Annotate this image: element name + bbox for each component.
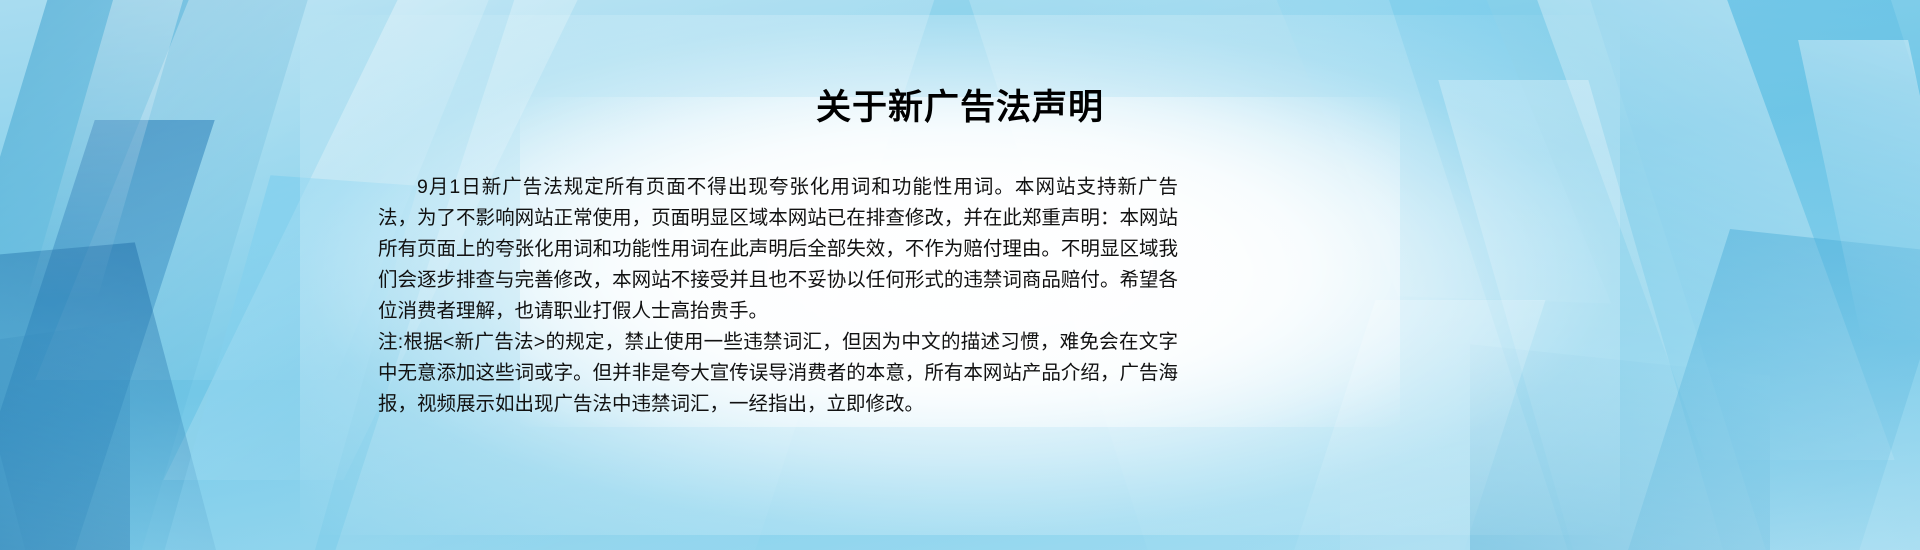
statement-paragraph-main: 9月1日新广告法规定所有页面不得出现夸张化用词和功能性用词。本网站支持新广告法，… [378,172,1178,327]
statement-body: 9月1日新广告法规定所有页面不得出现夸张化用词和功能性用词。本网站支持新广告法，… [378,172,1178,420]
advertising-law-statement-banner: 关于新广告法声明 9月1日新广告法规定所有页面不得出现夸张化用词和功能性用词。本… [0,0,1920,550]
statement-paragraph-note: 注:根据<新广告法>的规定，禁止使用一些违禁词汇，但因为中文的描述习惯，难免会在… [378,327,1178,420]
statement-content: 关于新广告法声明 9月1日新广告法规定所有页面不得出现夸张化用词和功能性用词。本… [0,0,1920,550]
page-title: 关于新广告法声明 [0,86,1920,130]
